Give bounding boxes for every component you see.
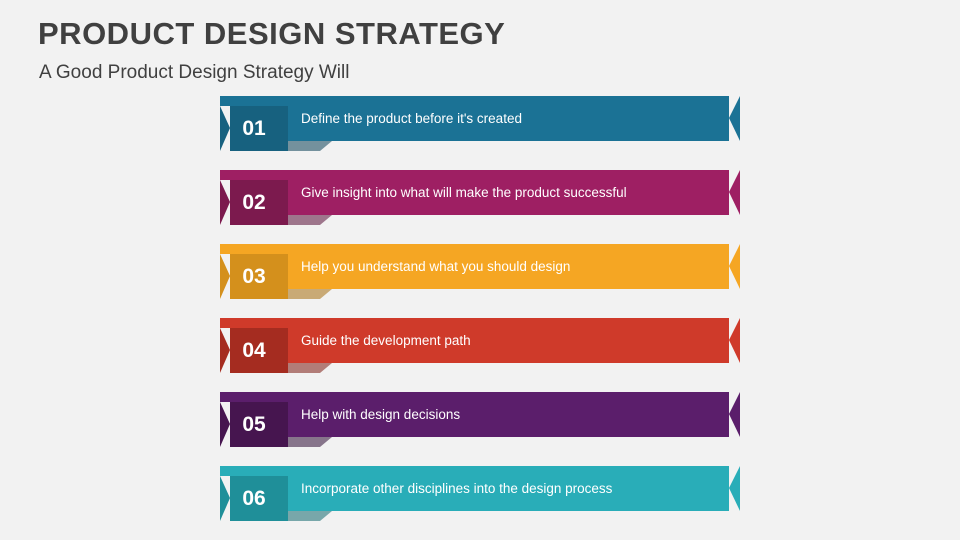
ribbon-band: Help you understand what you should desi… [220,244,740,289]
number-label: 06 [220,476,288,521]
page-subtitle: A Good Product Design Strategy Will [39,62,349,84]
ribbon-notch-icon [729,392,740,437]
number-tab: 01 [220,106,288,151]
ribbon-band-fill [220,392,740,437]
ribbon-band: Incorporate other disciplines into the d… [220,466,740,511]
ribbon-band: Help with design decisions [220,392,740,437]
list-item[interactable]: Guide the development path 04 [0,318,960,392]
ribbon-band: Define the product before it's created [220,96,740,141]
ribbon-band-fill [220,318,740,363]
number-tab: 05 [220,402,288,447]
ribbon-band: Give insight into what will make the pro… [220,170,740,215]
number-tab: 06 [220,476,288,521]
number-tab: 03 [220,254,288,299]
ribbon-label: Define the product before it's created [301,96,522,141]
ribbon-notch-icon [729,96,740,141]
ribbon-label: Give insight into what will make the pro… [301,170,627,215]
list-item[interactable]: Define the product before it's created 0… [0,96,960,170]
number-tab: 02 [220,180,288,225]
ribbon-label: Incorporate other disciplines into the d… [301,466,612,511]
list-item[interactable]: Help with design decisions 05 [0,392,960,466]
number-label: 01 [220,106,288,151]
number-label: 05 [220,402,288,447]
ribbon-list: Define the product before it's created 0… [0,96,960,540]
ribbon-fold-shadow [288,511,332,521]
ribbon-label: Guide the development path [301,318,471,363]
number-tab: 04 [220,328,288,373]
list-item[interactable]: Help you understand what you should desi… [0,244,960,318]
ribbon-label: Help you understand what you should desi… [301,244,570,289]
ribbon-fold-shadow [288,215,332,225]
ribbon-fold-shadow [288,141,332,151]
number-label: 03 [220,254,288,299]
ribbon-fold-shadow [288,363,332,373]
ribbon-fold-shadow [288,437,332,447]
ribbon-notch-icon [729,318,740,363]
ribbon-notch-icon [729,466,740,511]
list-item[interactable]: Give insight into what will make the pro… [0,170,960,244]
slide-canvas: PRODUCT DESIGN STRATEGY A Good Product D… [0,0,960,540]
page-title: PRODUCT DESIGN STRATEGY [38,16,505,52]
ribbon-band: Guide the development path [220,318,740,363]
ribbon-label: Help with design decisions [301,392,460,437]
number-label: 02 [220,180,288,225]
ribbon-fold-shadow [288,289,332,299]
list-item[interactable]: Incorporate other disciplines into the d… [0,466,960,540]
ribbon-notch-icon [729,170,740,215]
ribbon-notch-icon [729,244,740,289]
number-label: 04 [220,328,288,373]
